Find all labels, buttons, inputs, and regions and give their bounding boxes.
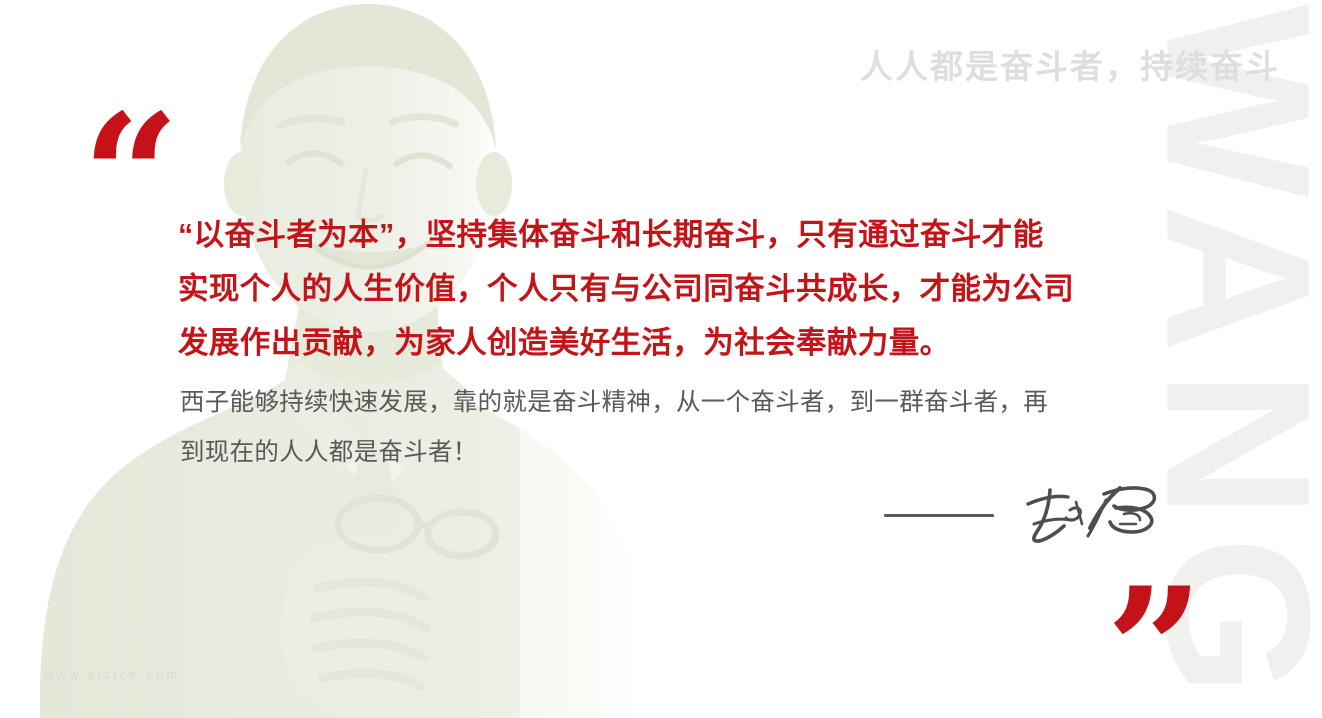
header-slogan: 人人都是奋斗者，持续奋斗 — [860, 40, 1280, 88]
quote-line: “以奋斗者为本”，坚持集体奋斗和长期奋斗，只有通过奋斗才能 — [178, 208, 1178, 262]
quote-line: 实现个人的人生价值，个人只有与公司同奋斗共成长，才能为公司 — [178, 262, 1178, 316]
signature-attribution — [884, 480, 1170, 550]
handwritten-signature-icon — [1020, 480, 1170, 550]
subtext-block: 西子能够持续快速发展，靠的就是奋斗精神，从一个奋斗者，到一群奋斗者，再 到现在的… — [180, 378, 1170, 478]
slide-canvas: WANG 人人都是奋斗者，持续奋斗 “ “ “以奋斗者为本”，坚持集体奋斗和长期… — [0, 0, 1322, 718]
subtext-line: 西子能够持续快速发展，靠的就是奋斗精神，从一个奋斗者，到一群奋斗者，再 — [180, 378, 1170, 428]
quote-text-block: “以奋斗者为本”，坚持集体奋斗和长期奋斗，只有通过奋斗才能 实现个人的人生价值，… — [178, 208, 1178, 370]
quote-line: 发展作出贡献，为家人创造美好生活，为社会奉献力量。 — [178, 316, 1178, 370]
site-url-watermark: www.xizice.com — [44, 667, 181, 682]
subtext-line: 到现在的人人都是奋斗者！ — [180, 428, 1170, 478]
signature-rule — [884, 514, 994, 517]
open-quote-icon: “ — [82, 92, 180, 262]
